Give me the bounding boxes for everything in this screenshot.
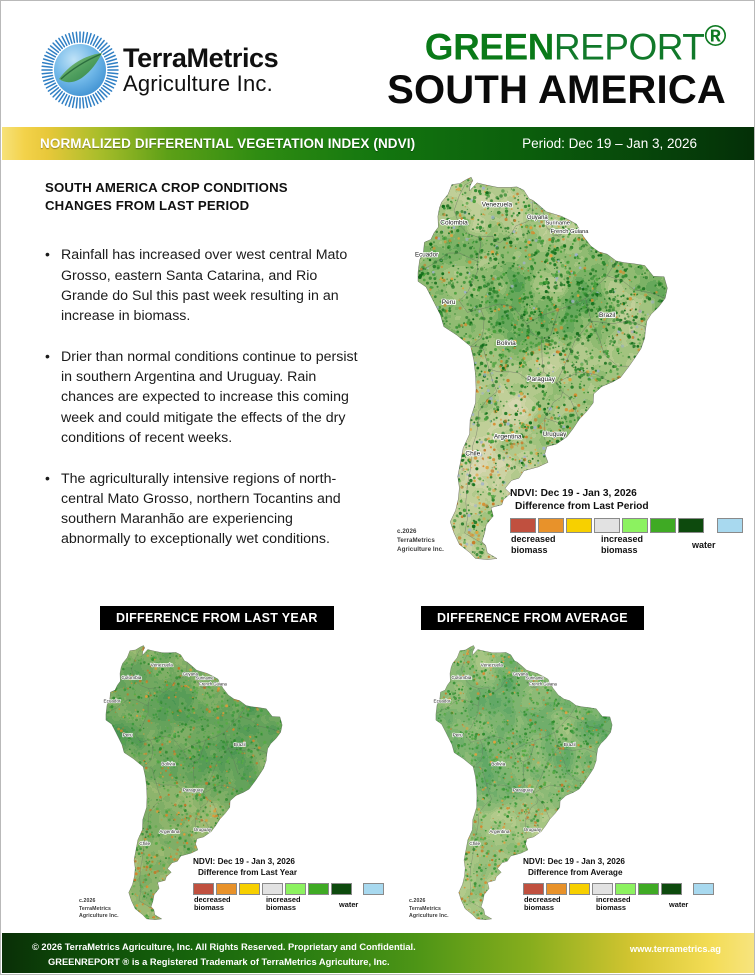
legend-last-year: NDVI: Dec 19 - Jan 3, 2026 Difference fr…: [193, 857, 386, 916]
summary-heading: SOUTH AMERICA CROP CONDITIONS CHANGES FR…: [45, 179, 365, 215]
legend-swatch-decreased-1: [569, 883, 590, 895]
legend-labels: decreased biomass increased biomass wate…: [510, 534, 745, 558]
copyright-line1: c.2026: [397, 528, 444, 537]
map-copyright-last-year: c.2026 TerraMetrics Agriculture Inc.: [79, 898, 119, 921]
legend-swatch-water: [693, 883, 714, 895]
legend-swatch-increased-2: [638, 883, 659, 895]
panel-title-average: DIFFERENCE FROM AVERAGE: [421, 606, 644, 630]
legend-title-line1: NDVI: Dec 19 - Jan 3, 2026: [523, 857, 716, 868]
banner-period: Period: Dec 19 – Jan 3, 2026: [522, 136, 697, 151]
copyright-line2: TerraMetrics: [79, 906, 119, 914]
map-copyright-main: c.2026 TerraMetrics Agriculture Inc.: [397, 528, 444, 555]
map-copyright-average: c.2026 TerraMetrics Agriculture Inc.: [409, 898, 449, 921]
brand-title: GREENREPORT®: [387, 21, 726, 67]
legend-labels: decreased biomass increased biomass wate…: [523, 896, 716, 916]
legend-label-increased: increased biomass: [596, 896, 631, 913]
copyright-line3: Agriculture Inc.: [397, 546, 444, 555]
footer-website-link[interactable]: www.terrametrics.ag: [630, 944, 721, 954]
copyright-line3: Agriculture Inc.: [79, 913, 119, 921]
legend-title-line2: Difference from Average: [528, 868, 716, 879]
legend-label-decreased: decreased biomass: [511, 534, 556, 555]
legend-swatch-decreased-3: [523, 883, 544, 895]
brand-green-word: GREEN: [425, 26, 554, 67]
legend-swatch-decreased-3: [510, 518, 536, 533]
legend-title-line1: NDVI: Dec 19 - Jan 3, 2026: [193, 857, 386, 868]
legend-label-water: water: [339, 901, 358, 910]
terrametrics-globe-leaf-logo: [39, 29, 121, 111]
legend-title-line2: Difference from Last Year: [198, 868, 386, 879]
logo-svg: [39, 29, 121, 111]
legend-swatch-increased-2: [650, 518, 676, 533]
average-map-panel: c.2026 TerraMetrics Agriculture Inc. NDV…: [391, 639, 721, 939]
bullet-dot-icon: •: [45, 347, 61, 448]
copyright-line1: c.2026: [79, 898, 119, 906]
copyright-line3: Agriculture Inc.: [409, 913, 449, 921]
legend-swatch-increased-1: [615, 883, 636, 895]
legend-swatch-decreased-2: [546, 883, 567, 895]
page-header: TerraMetrics Agriculture Inc. GREENREPOR…: [1, 1, 754, 126]
copyright-line1: c.2026: [409, 898, 449, 906]
brand-report-word: REPORT: [554, 26, 705, 67]
legend-labels: decreased biomass increased biomass wate…: [193, 896, 386, 916]
legend-label-increased-l2: biomass: [601, 545, 643, 556]
legend-swatch-increased-3: [661, 883, 682, 895]
copyright-line2: TerraMetrics: [409, 906, 449, 914]
legend-label-decreased-l2: biomass: [524, 904, 561, 913]
summary-heading-line2: CHANGES FROM LAST PERIOD: [45, 197, 365, 215]
report-brand: GREENREPORT® SOUTH AMERICA: [387, 21, 726, 112]
page-footer: © 2026 TerraMetrics Agriculture, Inc. Al…: [2, 933, 755, 973]
bullet-text: Drier than normal conditions continue to…: [61, 347, 365, 448]
legend-swatches: [523, 883, 716, 895]
legend-swatch-water: [717, 518, 743, 533]
bullet-text: Rainfall has increased over west central…: [61, 245, 365, 326]
logo-name-line1: TerraMetrics: [123, 45, 278, 72]
registered-trademark-icon: ®: [704, 20, 726, 53]
legend-title-line1: NDVI: Dec 19 - Jan 3, 2026: [510, 487, 745, 500]
legend-average: NDVI: Dec 19 - Jan 3, 2026 Difference fr…: [523, 857, 716, 916]
legend-label-decreased: decreased biomass: [194, 896, 231, 913]
legend-swatch-decreased-1: [239, 883, 260, 895]
summary-bullet-list: • Rainfall has increased over west centr…: [45, 245, 365, 549]
main-ndvi-map-panel: c.2026 TerraMetrics Agriculture Inc. NDV…: [383, 169, 745, 581]
legend-label-increased-l2: biomass: [596, 904, 631, 913]
bullet-text: The agriculturally intensive regions of …: [61, 469, 365, 550]
legend-swatch-neutral: [592, 883, 613, 895]
list-item: • Drier than normal conditions continue …: [45, 347, 365, 448]
crop-conditions-summary: SOUTH AMERICA CROP CONDITIONS CHANGES FR…: [45, 179, 365, 570]
legend-label-increased-l2: biomass: [266, 904, 301, 913]
legend-label-decreased-l1: decreased: [511, 534, 556, 545]
legend-swatch-increased-2: [308, 883, 329, 895]
legend-label-water: water: [669, 901, 688, 910]
copyright-line2: TerraMetrics: [397, 537, 444, 546]
list-item: • The agriculturally intensive regions o…: [45, 469, 365, 550]
legend-label-increased: increased biomass: [601, 534, 643, 555]
legend-swatch-increased-3: [678, 518, 704, 533]
legend-label-increased-l1: increased: [601, 534, 643, 545]
legend-swatch-neutral: [594, 518, 620, 533]
footer-trademark: GREENREPORT ® is a Registered Trademark …: [32, 955, 755, 970]
legend-swatch-increased-1: [622, 518, 648, 533]
legend-label-decreased-l2: biomass: [194, 904, 231, 913]
bullet-dot-icon: •: [45, 245, 61, 326]
list-item: • Rainfall has increased over west centr…: [45, 245, 365, 326]
legend-main: NDVI: Dec 19 - Jan 3, 2026 Difference fr…: [510, 487, 745, 558]
legend-label-decreased: decreased biomass: [524, 896, 561, 913]
legend-swatch-increased-1: [285, 883, 306, 895]
legend-swatch-decreased-2: [538, 518, 564, 533]
legend-label-increased: increased biomass: [266, 896, 301, 913]
legend-swatches: [510, 518, 745, 533]
banner-title: NORMALIZED DIFFERENTIAL VEGETATION INDEX…: [40, 136, 415, 151]
legend-swatches: [193, 883, 386, 895]
panel-title-last-year: DIFFERENCE FROM LAST YEAR: [100, 606, 334, 630]
page-title: SOUTH AMERICA: [387, 69, 726, 112]
legend-swatch-water: [363, 883, 384, 895]
ndvi-banner: NORMALIZED DIFFERENTIAL VEGETATION INDEX…: [2, 127, 755, 160]
logo-wordmark: TerraMetrics Agriculture Inc.: [123, 45, 278, 95]
last-year-map-panel: c.2026 TerraMetrics Agriculture Inc. NDV…: [61, 639, 391, 939]
legend-swatch-increased-3: [331, 883, 352, 895]
legend-swatch-decreased-2: [216, 883, 237, 895]
legend-label-decreased-l2: biomass: [511, 545, 556, 556]
bullet-dot-icon: •: [45, 469, 61, 550]
greenreport-page: TerraMetrics Agriculture Inc. GREENREPOR…: [0, 0, 755, 975]
company-logo: TerraMetrics Agriculture Inc.: [39, 27, 289, 112]
legend-swatch-decreased-3: [193, 883, 214, 895]
legend-swatch-neutral: [262, 883, 283, 895]
legend-label-water: water: [692, 540, 716, 551]
logo-name-line2: Agriculture Inc.: [123, 73, 278, 95]
legend-swatch-decreased-1: [566, 518, 592, 533]
legend-title-line2: Difference from Last Period: [515, 500, 745, 513]
summary-heading-line1: SOUTH AMERICA CROP CONDITIONS: [45, 179, 365, 197]
